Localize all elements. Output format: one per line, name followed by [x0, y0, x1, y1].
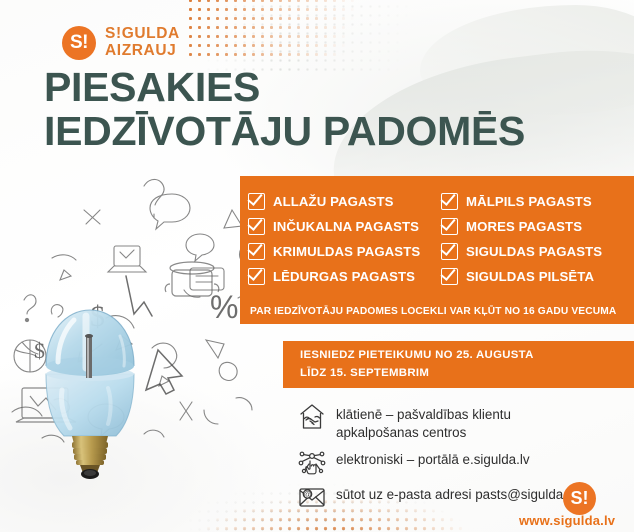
- checklist-column-left: ALLAŽU PAGASTS INČUKALNA PAGASTS KRIMULD…: [248, 189, 441, 289]
- contact-method-electronic: elektroniski – portālā e.sigulda.lv: [297, 449, 634, 477]
- checklist-item-label: LĒDURGAS PAGASTS: [273, 269, 415, 284]
- checkbox-checked-icon: [441, 268, 458, 285]
- checklist-item-label: SIGULDAS PILSĒTA: [466, 269, 594, 284]
- checkbox-checked-icon: [441, 193, 458, 210]
- checklist-item-label: SIGULDAS PAGASTS: [466, 244, 602, 259]
- age-requirement-text: PAR IEDZĪVOTĀJU PADOMES LOCEKLI VAR KĻŪT…: [240, 306, 616, 317]
- contact-line-1: elektroniski – portālā e.sigulda.lv: [336, 451, 530, 469]
- contact-line-1: klātienē – pašvaldības klientu: [336, 406, 511, 424]
- lightbulb-illustration: [28, 292, 152, 482]
- contact-method-text: sūtot uz e-pasta adresi pasts@sigulda: [336, 484, 563, 504]
- checklist-item[interactable]: MĀLPILS PAGASTS: [441, 189, 634, 214]
- checkbox-checked-icon: [248, 193, 265, 210]
- age-requirement-banner: PAR IEDZĪVOTĀJU PADOMES LOCEKLI VAR KĻŪT…: [240, 298, 634, 324]
- checklist-item-label: ALLAŽU PAGASTS: [273, 194, 394, 209]
- svg-text:%: %: [210, 289, 238, 325]
- deadline-line-1: IESNIEDZ PIETEIKUMU NO 25. AUGUSTA: [300, 347, 634, 364]
- checklist-item-label: INČUKALNA PAGASTS: [273, 219, 419, 234]
- checkbox-checked-icon: [248, 243, 265, 260]
- logo-line-2: AIZRAUJ: [105, 43, 180, 60]
- contact-line-1: sūtot uz e-pasta adresi pasts@sigulda: [336, 486, 563, 504]
- checkbox-checked-icon: [248, 268, 265, 285]
- checklist-item[interactable]: SIGULDAS PAGASTS: [441, 239, 634, 264]
- contact-method-text: klātienē – pašvaldības klientu apkalpoša…: [336, 404, 511, 442]
- house-handshake-icon: [297, 402, 327, 432]
- deadline-line-2: LĪDZ 15. SEPTEMBRIM: [300, 365, 634, 382]
- contact-line-2: apkalpošanas centros: [336, 424, 511, 442]
- checklist-item-label: MORES PAGASTS: [466, 219, 582, 234]
- footer-website-url[interactable]: www.sigulda.lv: [519, 513, 615, 528]
- checklist-item[interactable]: KRIMULDAS PAGASTS: [248, 239, 441, 264]
- checklist-item[interactable]: LĒDURGAS PAGASTS: [248, 264, 441, 289]
- contact-method-in-person: klātienē – pašvaldības klientu apkalpoša…: [297, 404, 634, 442]
- checklist-item[interactable]: ALLAŽU PAGASTS: [248, 189, 441, 214]
- deadline-banner: IESNIEDZ PIETEIKUMU NO 25. AUGUSTA LĪDZ …: [283, 341, 634, 388]
- logo-line-1: S!GULDA: [105, 26, 180, 43]
- logo-badge: S!: [62, 26, 96, 60]
- checklist-item[interactable]: INČUKALNA PAGASTS: [248, 214, 441, 239]
- checkbox-checked-icon: [248, 218, 265, 235]
- contact-method-text: elektroniski – portālā e.sigulda.lv: [336, 449, 530, 469]
- poster-canvas: $ $ %: [0, 0, 634, 532]
- checklist-item[interactable]: SIGULDAS PILSĒTA: [441, 264, 634, 289]
- parish-checklist-panel: ALLAŽU PAGASTS INČUKALNA PAGASTS KRIMULD…: [240, 176, 634, 298]
- network-click-icon: [297, 447, 327, 477]
- page-title: PIESAKIES IEDZĪVOTĀJU PADOMĒS: [44, 66, 624, 154]
- checklist-item[interactable]: MORES PAGASTS: [441, 214, 634, 239]
- logo-wordmark: S!GULDA AIZRAUJ: [105, 26, 180, 59]
- footer-logo-badge: S!: [563, 482, 596, 515]
- svg-text:@: @: [303, 490, 311, 499]
- checklist-item-label: MĀLPILS PAGASTS: [466, 194, 592, 209]
- headline-line-1: PIESAKIES: [44, 66, 624, 110]
- checklist-column-right: MĀLPILS PAGASTS MORES PAGASTS SIGULDAS P…: [441, 189, 634, 289]
- checkbox-checked-icon: [441, 218, 458, 235]
- email-envelope-icon: @: [297, 482, 327, 512]
- checkbox-checked-icon: [441, 243, 458, 260]
- headline-line-2: IEDZĪVOTĀJU PADOMĒS: [44, 110, 624, 154]
- sigulda-logo: S! S!GULDA AIZRAUJ: [62, 26, 180, 60]
- checklist-item-label: KRIMULDAS PAGASTS: [273, 244, 420, 259]
